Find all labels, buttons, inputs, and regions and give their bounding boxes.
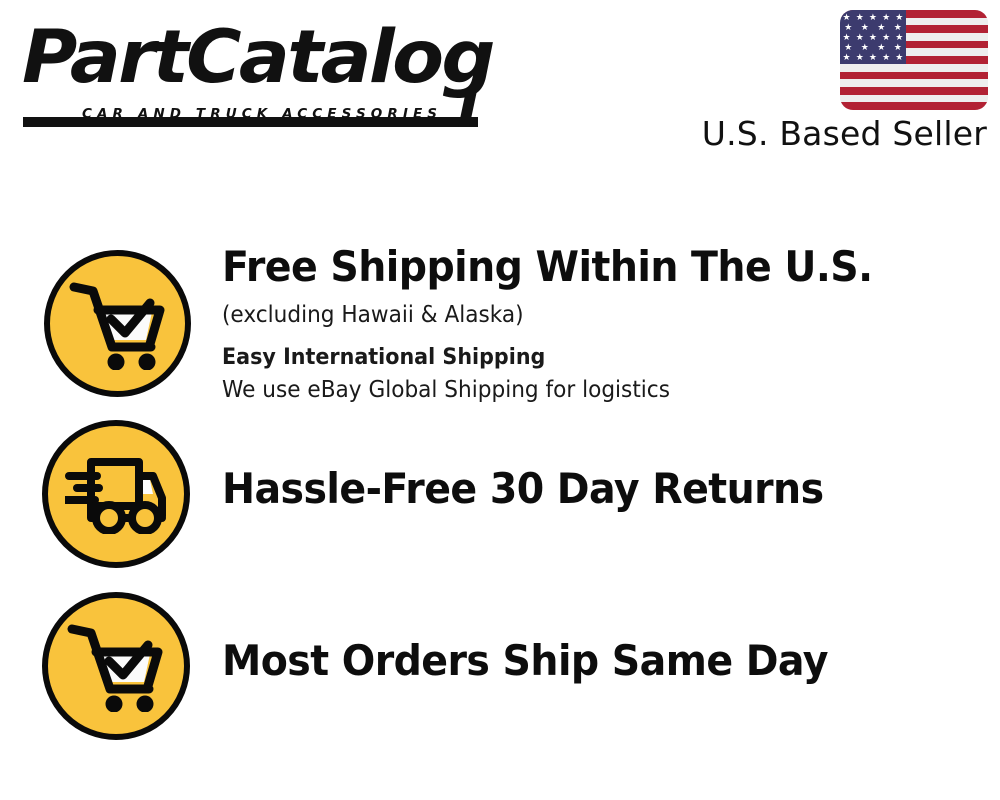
feature-text-block: Free Shipping Within The U.S. (excluding… <box>222 242 982 406</box>
feature-sub-heading: Easy International Shipping <box>222 342 936 374</box>
feature-title: Hassle-Free 30 Day Returns <box>222 464 936 514</box>
promo-banner: PartCatalog CAR AND TRUCK ACCESSORIES <box>0 0 1000 800</box>
feature-item: Hassle-Free 30 Day Returns <box>0 420 1000 570</box>
feature-subtitle: (excluding Hawaii & Alaska) <box>222 299 936 331</box>
feature-title: Free Shipping Within The U.S. <box>222 242 936 292</box>
feature-list: Free Shipping Within The U.S. (excluding… <box>0 0 1000 800</box>
feature-item: Free Shipping Within The U.S. (excluding… <box>0 248 1000 408</box>
feature-text-block: Most Orders Ship Same Day <box>222 636 982 686</box>
feature-text-block: Hassle-Free 30 Day Returns <box>222 464 982 514</box>
delivery-truck-icon <box>42 420 190 568</box>
shopping-cart-check-icon <box>44 250 191 397</box>
feature-sub-detail: We use eBay Global Shipping for logistic… <box>222 374 936 406</box>
feature-item: Most Orders Ship Same Day <box>0 592 1000 742</box>
feature-title: Most Orders Ship Same Day <box>222 636 936 686</box>
shopping-cart-check-icon <box>42 592 190 740</box>
